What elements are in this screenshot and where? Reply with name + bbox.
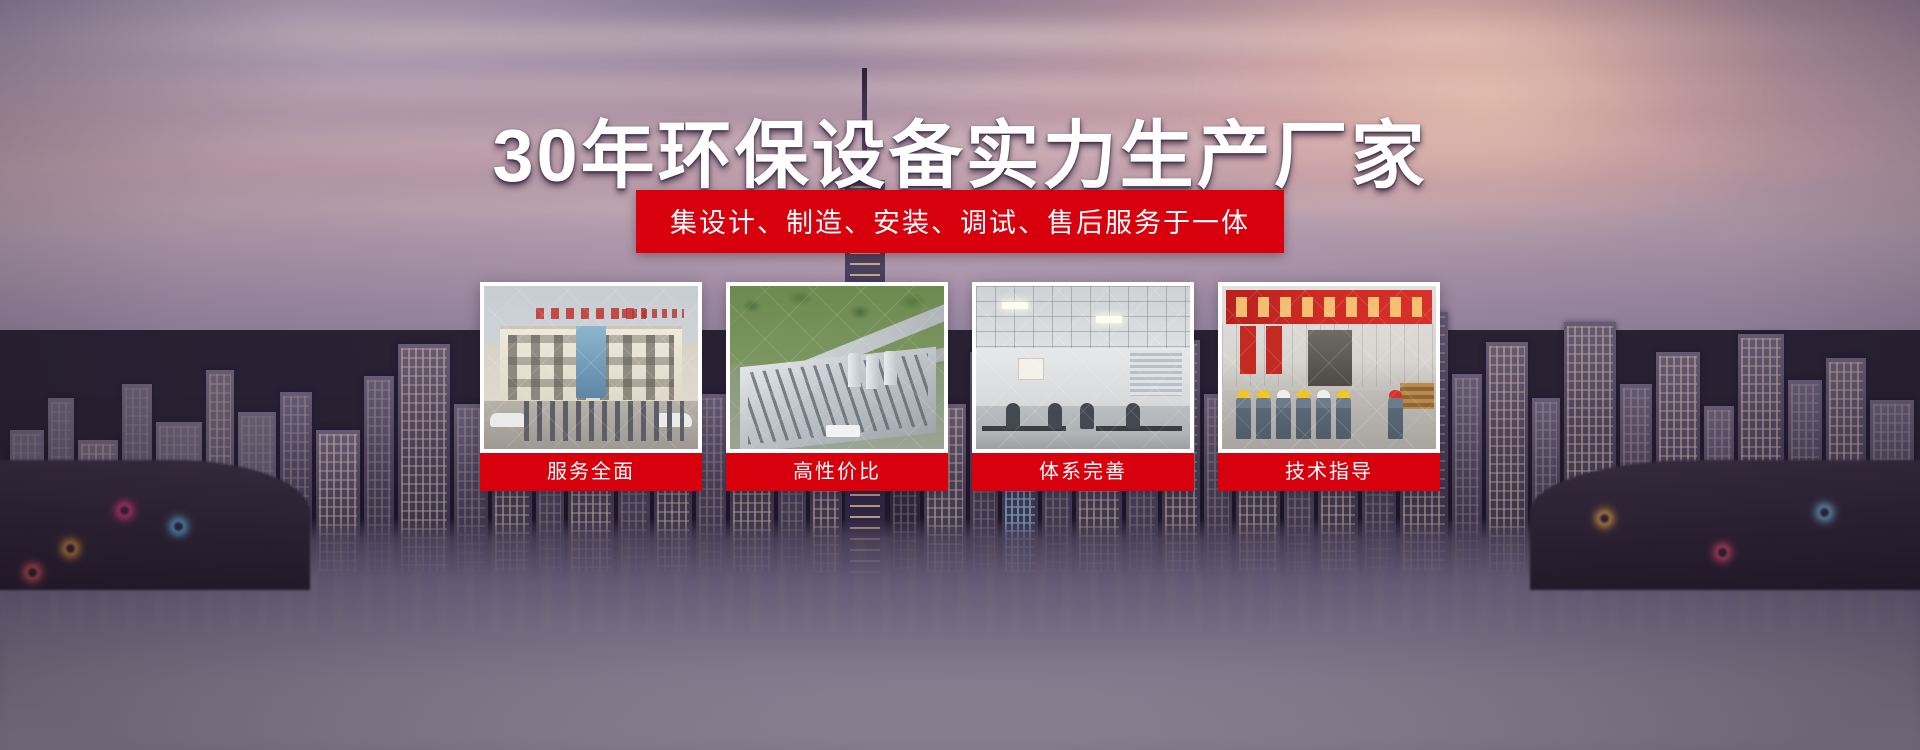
card-image-office-building [484, 286, 698, 449]
feature-card-value[interactable]: 高性价比 [726, 282, 948, 491]
card-label: 高性价比 [726, 453, 948, 491]
card-label: 服务全面 [480, 453, 702, 491]
card-image-workshop-workers [1222, 286, 1436, 449]
card-label: 体系完善 [972, 453, 1194, 491]
feature-card-list: 服务全面 高性价比 [480, 282, 1440, 491]
left-riverbank [0, 460, 310, 590]
feature-card-system[interactable]: 体系完善 [972, 282, 1194, 491]
cloud-band [0, 24, 1920, 50]
feature-card-service[interactable]: 服务全面 [480, 282, 702, 491]
card-label: 技术指导 [1218, 453, 1440, 491]
card-image-factory-aerial [730, 286, 944, 449]
subtitle-badge: 集设计、制造、安装、调试、售后服务于一体 [636, 190, 1284, 253]
feature-card-guidance[interactable]: 技术指导 [1218, 282, 1440, 491]
water-haze [0, 590, 1920, 750]
hero-banner: 30年环保设备实力生产厂家 集设计、制造、安装、调试、售后服务于一体 服务全面 [0, 0, 1920, 750]
page-title: 30年环保设备实力生产厂家 [0, 96, 1920, 203]
card-image-office-interior [976, 286, 1190, 449]
right-riverbank [1530, 460, 1920, 590]
cloud-band [0, 78, 1920, 98]
